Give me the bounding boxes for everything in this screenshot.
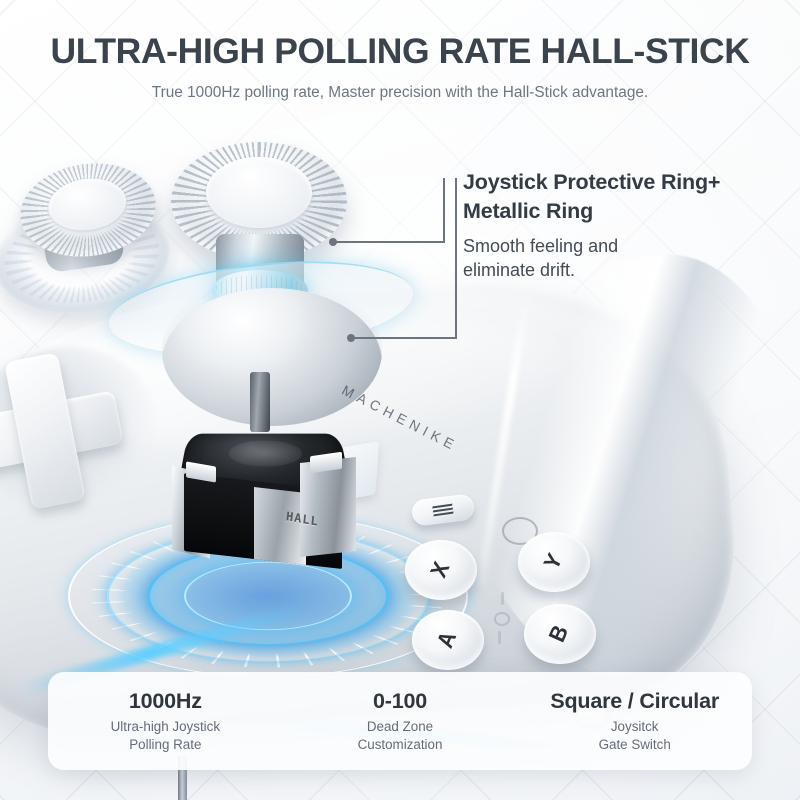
leader-line-metal-horizontal bbox=[350, 337, 457, 339]
leader-line-ring-horizontal bbox=[332, 241, 445, 243]
callout-sub-line-2: eliminate drift. bbox=[463, 258, 793, 283]
face-button-y-label: Y bbox=[540, 550, 569, 574]
face-button-x-label: X bbox=[426, 558, 456, 582]
face-button-b[interactable]: B bbox=[524, 604, 596, 664]
spec-stats-bar: 1000Hz Ultra-high Joystick Polling Rate … bbox=[48, 672, 752, 770]
stat-label: Ultra-high Joystick Polling Rate bbox=[111, 718, 220, 754]
exploded-joystick-assembly bbox=[166, 138, 356, 408]
face-button-x[interactable]: X bbox=[405, 540, 477, 600]
stat-value: 0-100 bbox=[373, 689, 427, 714]
stat-label-line-2: Gate Switch bbox=[599, 736, 671, 754]
hall-sensor-metal-frame-mid bbox=[254, 487, 306, 565]
callout-title-line-2: Metallic Ring bbox=[463, 197, 793, 226]
face-button-y[interactable]: Y bbox=[518, 532, 590, 592]
stat-label-line-1: Joysitck bbox=[599, 718, 671, 736]
home-indicator-bar bbox=[498, 631, 501, 644]
center-indicator bbox=[494, 612, 510, 626]
header-block: ULTRA-HIGH POLLING RATE HALL-STICK True … bbox=[0, 0, 800, 102]
hall-sensor-metal-frame-right bbox=[300, 457, 356, 557]
stat-label: Dead Zone Customization bbox=[358, 718, 443, 754]
stat-label-line-1: Dead Zone bbox=[358, 718, 443, 736]
leader-line-ring-vertical bbox=[443, 178, 445, 242]
hamburger-icon bbox=[432, 502, 454, 518]
leader-line-metal-vertical bbox=[455, 178, 457, 338]
callout-subtitle: Smooth feeling and eliminate drift. bbox=[463, 234, 793, 284]
callout-sub-line-1: Smooth feeling and bbox=[463, 234, 793, 259]
stat-label-line-1: Ultra-high Joystick bbox=[111, 718, 220, 736]
leader-dot-protective-ring bbox=[329, 238, 337, 246]
stat-label-line-2: Polling Rate bbox=[111, 736, 220, 754]
page-title: ULTRA-HIGH POLLING RATE HALL-STICK bbox=[0, 33, 800, 70]
stat-item-polling-rate: 1000Hz Ultra-high Joystick Polling Rate bbox=[48, 672, 283, 770]
face-button-a[interactable]: A bbox=[412, 610, 484, 670]
stat-value: Square / Circular bbox=[550, 689, 719, 714]
callout-title: Joystick Protective Ring+ Metallic Ring bbox=[463, 168, 793, 226]
product-feature-graphic: ULTRA-HIGH POLLING RATE HALL-STICK True … bbox=[0, 0, 800, 800]
capture-button[interactable] bbox=[501, 592, 504, 605]
stat-label: Joysitck Gate Switch bbox=[599, 718, 671, 754]
leader-dot-metallic-ring bbox=[347, 334, 355, 342]
page-subtitle: True 1000Hz polling rate, Master precisi… bbox=[0, 84, 800, 102]
hall-sensor-module: HALL bbox=[168, 408, 362, 588]
callout-title-line-1: Joystick Protective Ring+ bbox=[463, 168, 793, 197]
callout-block: Joystick Protective Ring+ Metallic Ring … bbox=[463, 168, 793, 283]
face-button-a-label: A bbox=[433, 628, 463, 652]
stat-value: 1000Hz bbox=[129, 689, 202, 714]
stat-item-gate-switch: Square / Circular Joysitck Gate Switch bbox=[517, 672, 752, 770]
hall-sensor-shaft bbox=[250, 372, 270, 432]
stat-item-dead-zone: 0-100 Dead Zone Customization bbox=[283, 672, 518, 770]
stat-label-line-2: Customization bbox=[358, 736, 443, 754]
face-button-b-label: B bbox=[545, 622, 575, 647]
